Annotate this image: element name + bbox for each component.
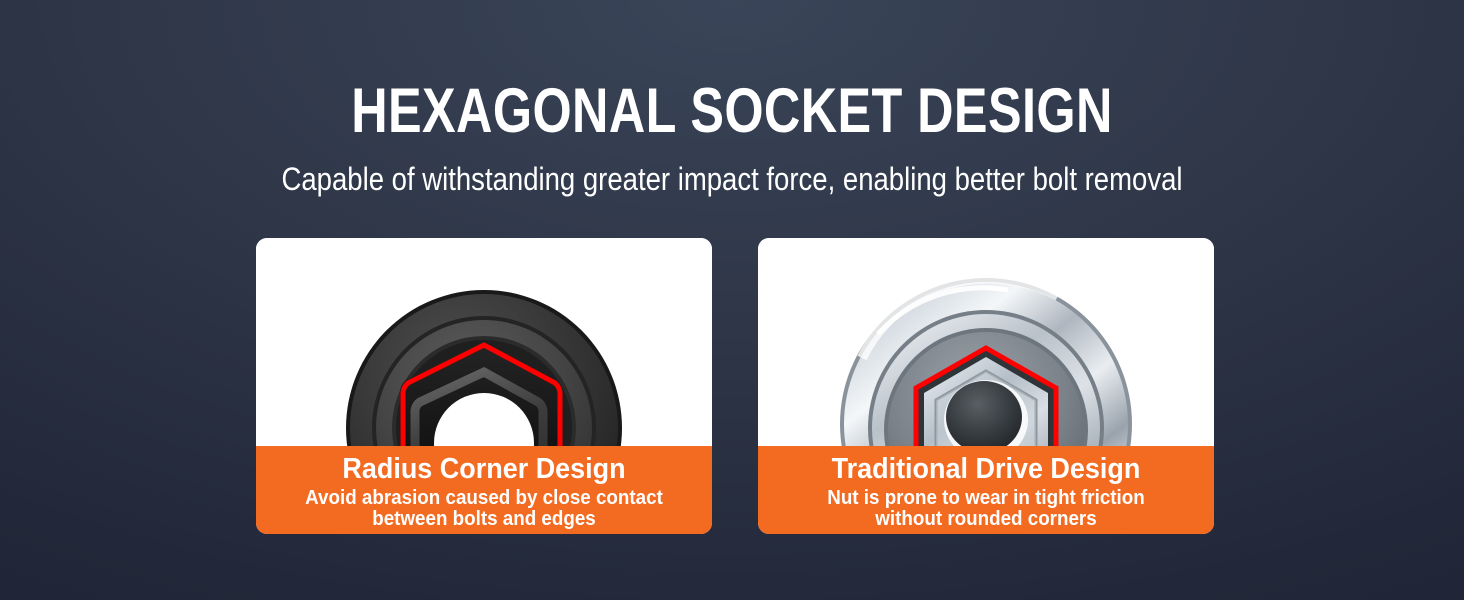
caption-description: Avoid abrasion caused by close contact b… [270,488,699,530]
card-traditional-drive: Traditional Drive Design Nut is prone to… [758,238,1214,534]
promo-banner: HEXAGONAL SOCKET DESIGN Capable of withs… [0,0,1464,600]
caption-radius-corner: Radius Corner Design Avoid abrasion caus… [256,446,712,534]
socket-photo-radius-corner [256,238,712,446]
caption-line-1: Avoid abrasion caused by close contact [270,488,699,509]
caption-title: Radius Corner Design [272,452,696,486]
chrome-socket-illustration [758,238,1214,446]
card-radius-corner: Radius Corner Design Avoid abrasion caus… [256,238,712,534]
socket-photo-traditional-drive [758,238,1214,446]
caption-title: Traditional Drive Design [774,452,1198,486]
caption-traditional-drive: Traditional Drive Design Nut is prone to… [758,446,1214,534]
caption-line-2: without rounded corners [772,509,1201,530]
page-title: HEXAGONAL SOCKET DESIGN [146,78,1317,144]
caption-line-1: Nut is prone to wear in tight friction [772,488,1201,509]
caption-line-2: between bolts and edges [270,509,699,530]
caption-description: Nut is prone to wear in tight friction w… [772,488,1201,530]
page-subtitle: Capable of withstanding greater impact f… [102,160,1361,198]
black-socket-illustration [256,238,712,446]
